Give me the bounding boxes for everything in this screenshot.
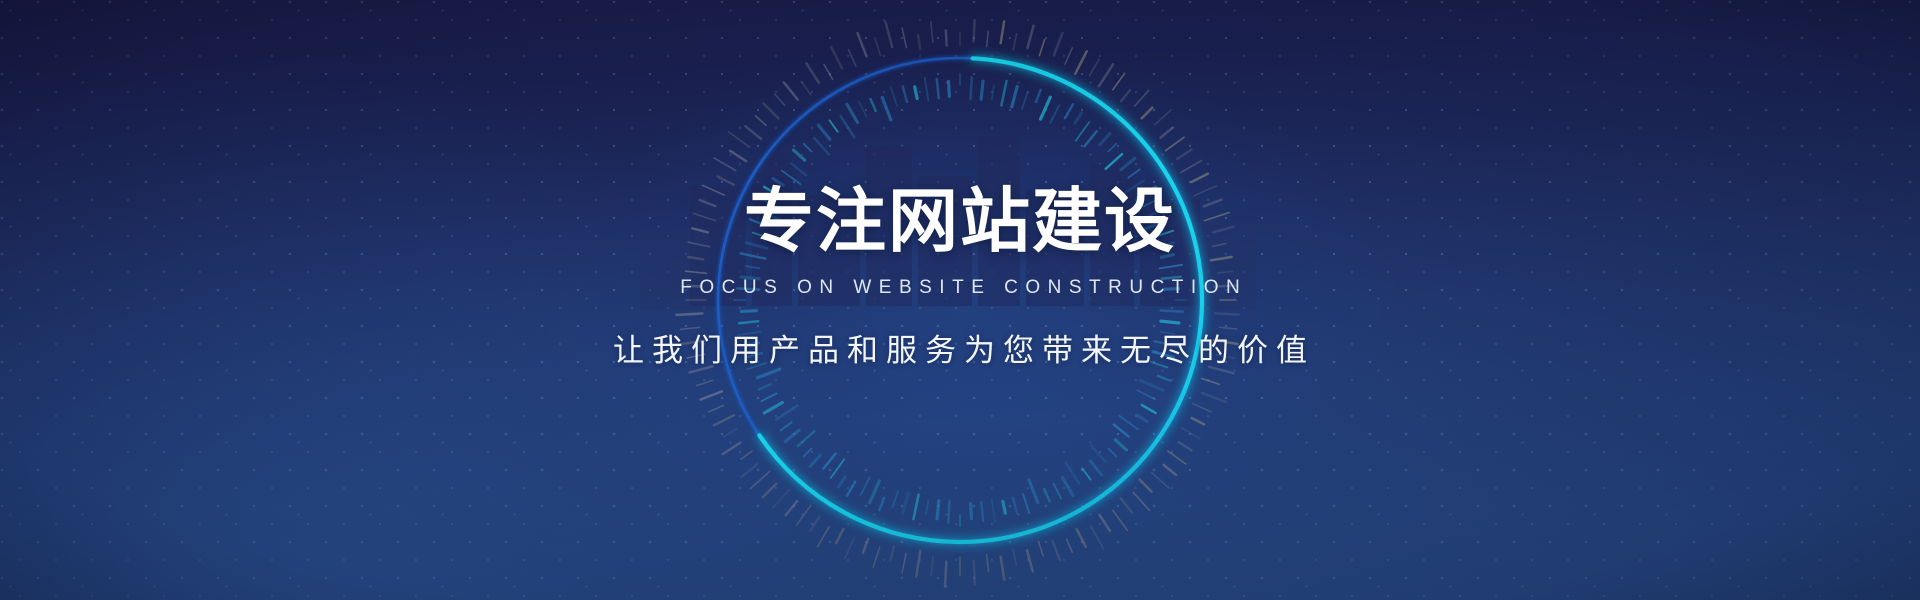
hero-text-block: 专注网站建设 FOCUS ON WEBSITE CONSTRUCTION 让我们…: [0, 186, 1920, 370]
hero-subheading: FOCUS ON WEBSITE CONSTRUCTION: [0, 277, 1920, 299]
hero-tagline: 让我们用产品和服务为您带来无尽的价值: [0, 325, 1920, 370]
hero-banner: 专注网站建设 FOCUS ON WEBSITE CONSTRUCTION 让我们…: [0, 0, 1920, 600]
page-title: 专注网站建设: [0, 186, 1920, 257]
